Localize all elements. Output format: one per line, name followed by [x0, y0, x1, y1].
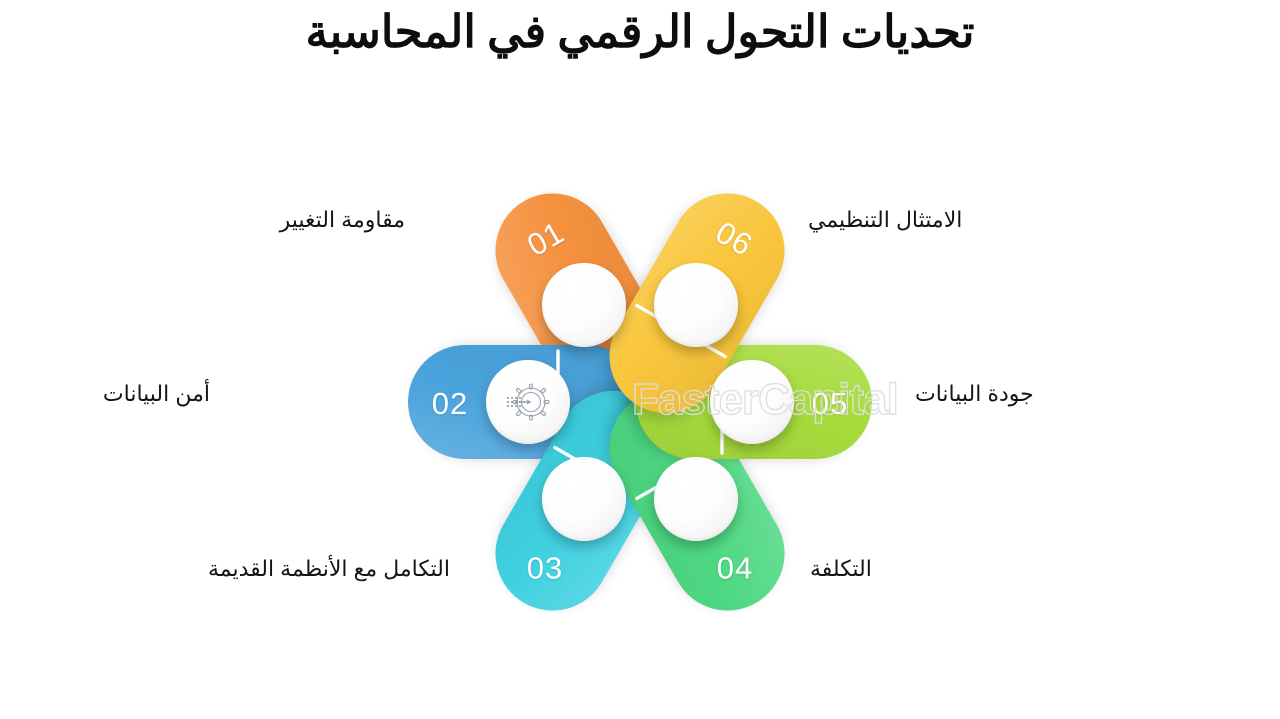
gear-circuit-icon [486, 360, 570, 444]
segment-05-label: جودة البيانات [915, 381, 1165, 407]
segment-04-label: التكلفة [810, 556, 1010, 582]
segment-01-icon-disc[interactable] [542, 263, 626, 347]
segment-03-icon-disc[interactable] [542, 457, 626, 541]
segment-05-icon-disc[interactable] [710, 360, 794, 444]
segment-03-label: التكامل مع الأنظمة القديمة [70, 556, 450, 582]
segment-02-icon-disc[interactable] [486, 360, 570, 444]
segment-04-icon-disc[interactable] [654, 457, 738, 541]
segment-04-number: 04 [678, 551, 792, 587]
radial-puzzle-diagram: 01 02 03 04 [0, 0, 1280, 719]
segment-06-label: الامتثال التنظيمي [808, 207, 1088, 233]
segment-02-label: أمن البيانات [0, 381, 210, 407]
segment-03-number: 03 [488, 551, 602, 587]
segment-01-label: مقاومة التغيير [120, 207, 405, 233]
segment-06-icon-disc[interactable] [654, 263, 738, 347]
